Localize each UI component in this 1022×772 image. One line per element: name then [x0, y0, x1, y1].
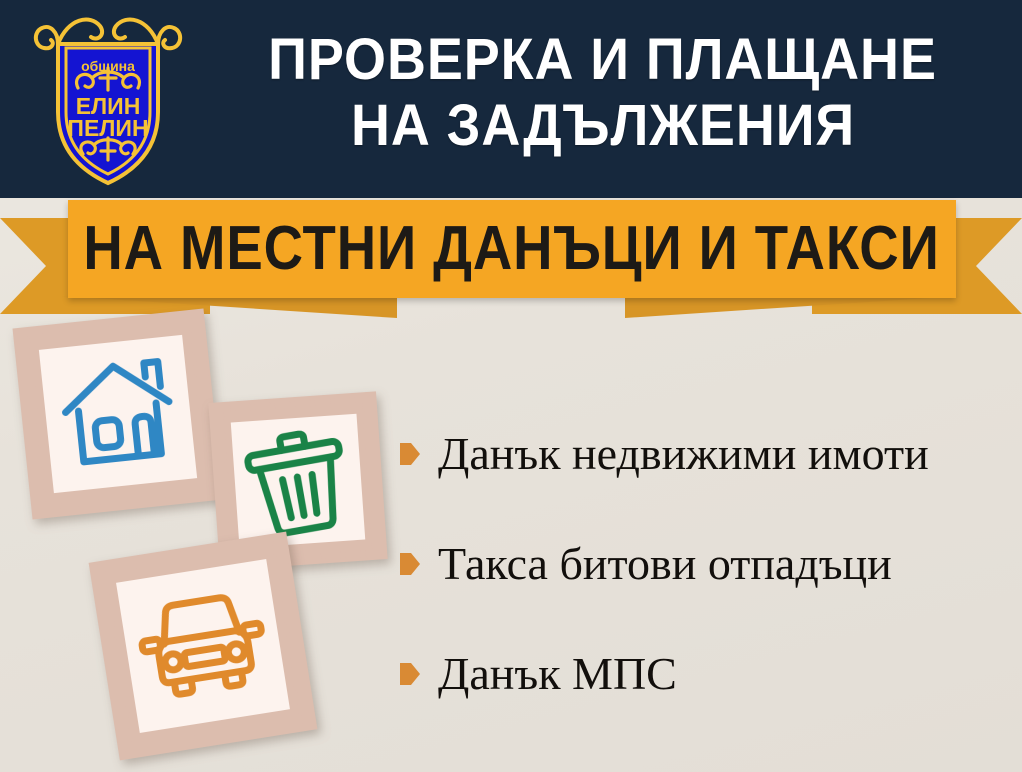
ribbon-text: НА МЕСТНИ ДАНЪЦИ И ТАКСИ [84, 218, 940, 280]
list-item-label: Данък недвижими имоти [438, 428, 929, 480]
header-title-group: ПРОВЕРКА И ПЛАЩАНЕ НА ЗАДЪЛЖЕНИЯ [190, 14, 1016, 184]
page-title-line-2: НА ЗАДЪЛЖЕНИЯ [351, 94, 855, 158]
stamp-house-frame [12, 308, 223, 519]
ribbon-banner: НА МЕСТНИ ДАНЪЦИ И ТАКСИ [0, 196, 1022, 326]
list-item: Данък недвижими имоти [400, 425, 1010, 483]
tax-type-list: Данък недвижими имоти Такса битови отпад… [400, 425, 1010, 755]
stamp-car-frame [89, 532, 318, 761]
ribbon-band: НА МЕСТНИ ДАНЪЦИ И ТАКСИ [68, 200, 956, 298]
coat-of-arms: община ЕЛИН ПЕЛИН [28, 8, 188, 190]
list-item-label: Такса битови отпадъци [438, 538, 892, 590]
poster-root: община ЕЛИН ПЕЛИН [0, 0, 1022, 772]
arrow-bullet-icon [400, 663, 420, 685]
stamp-car [89, 532, 318, 761]
header-bar: община ЕЛИН ПЕЛИН [0, 0, 1022, 198]
arrow-bullet-icon [400, 553, 420, 575]
list-item-label: Данък МПС [438, 648, 677, 700]
coat-of-arms-icon: община ЕЛИН ПЕЛИН [28, 8, 188, 190]
stamp-house [12, 308, 223, 519]
page-title-line-1: ПРОВЕРКА И ПЛАЩАНЕ [269, 28, 938, 92]
list-item: Данък МПС [400, 645, 1010, 703]
arrow-bullet-icon [400, 443, 420, 465]
list-item: Такса битови отпадъци [400, 535, 1010, 593]
